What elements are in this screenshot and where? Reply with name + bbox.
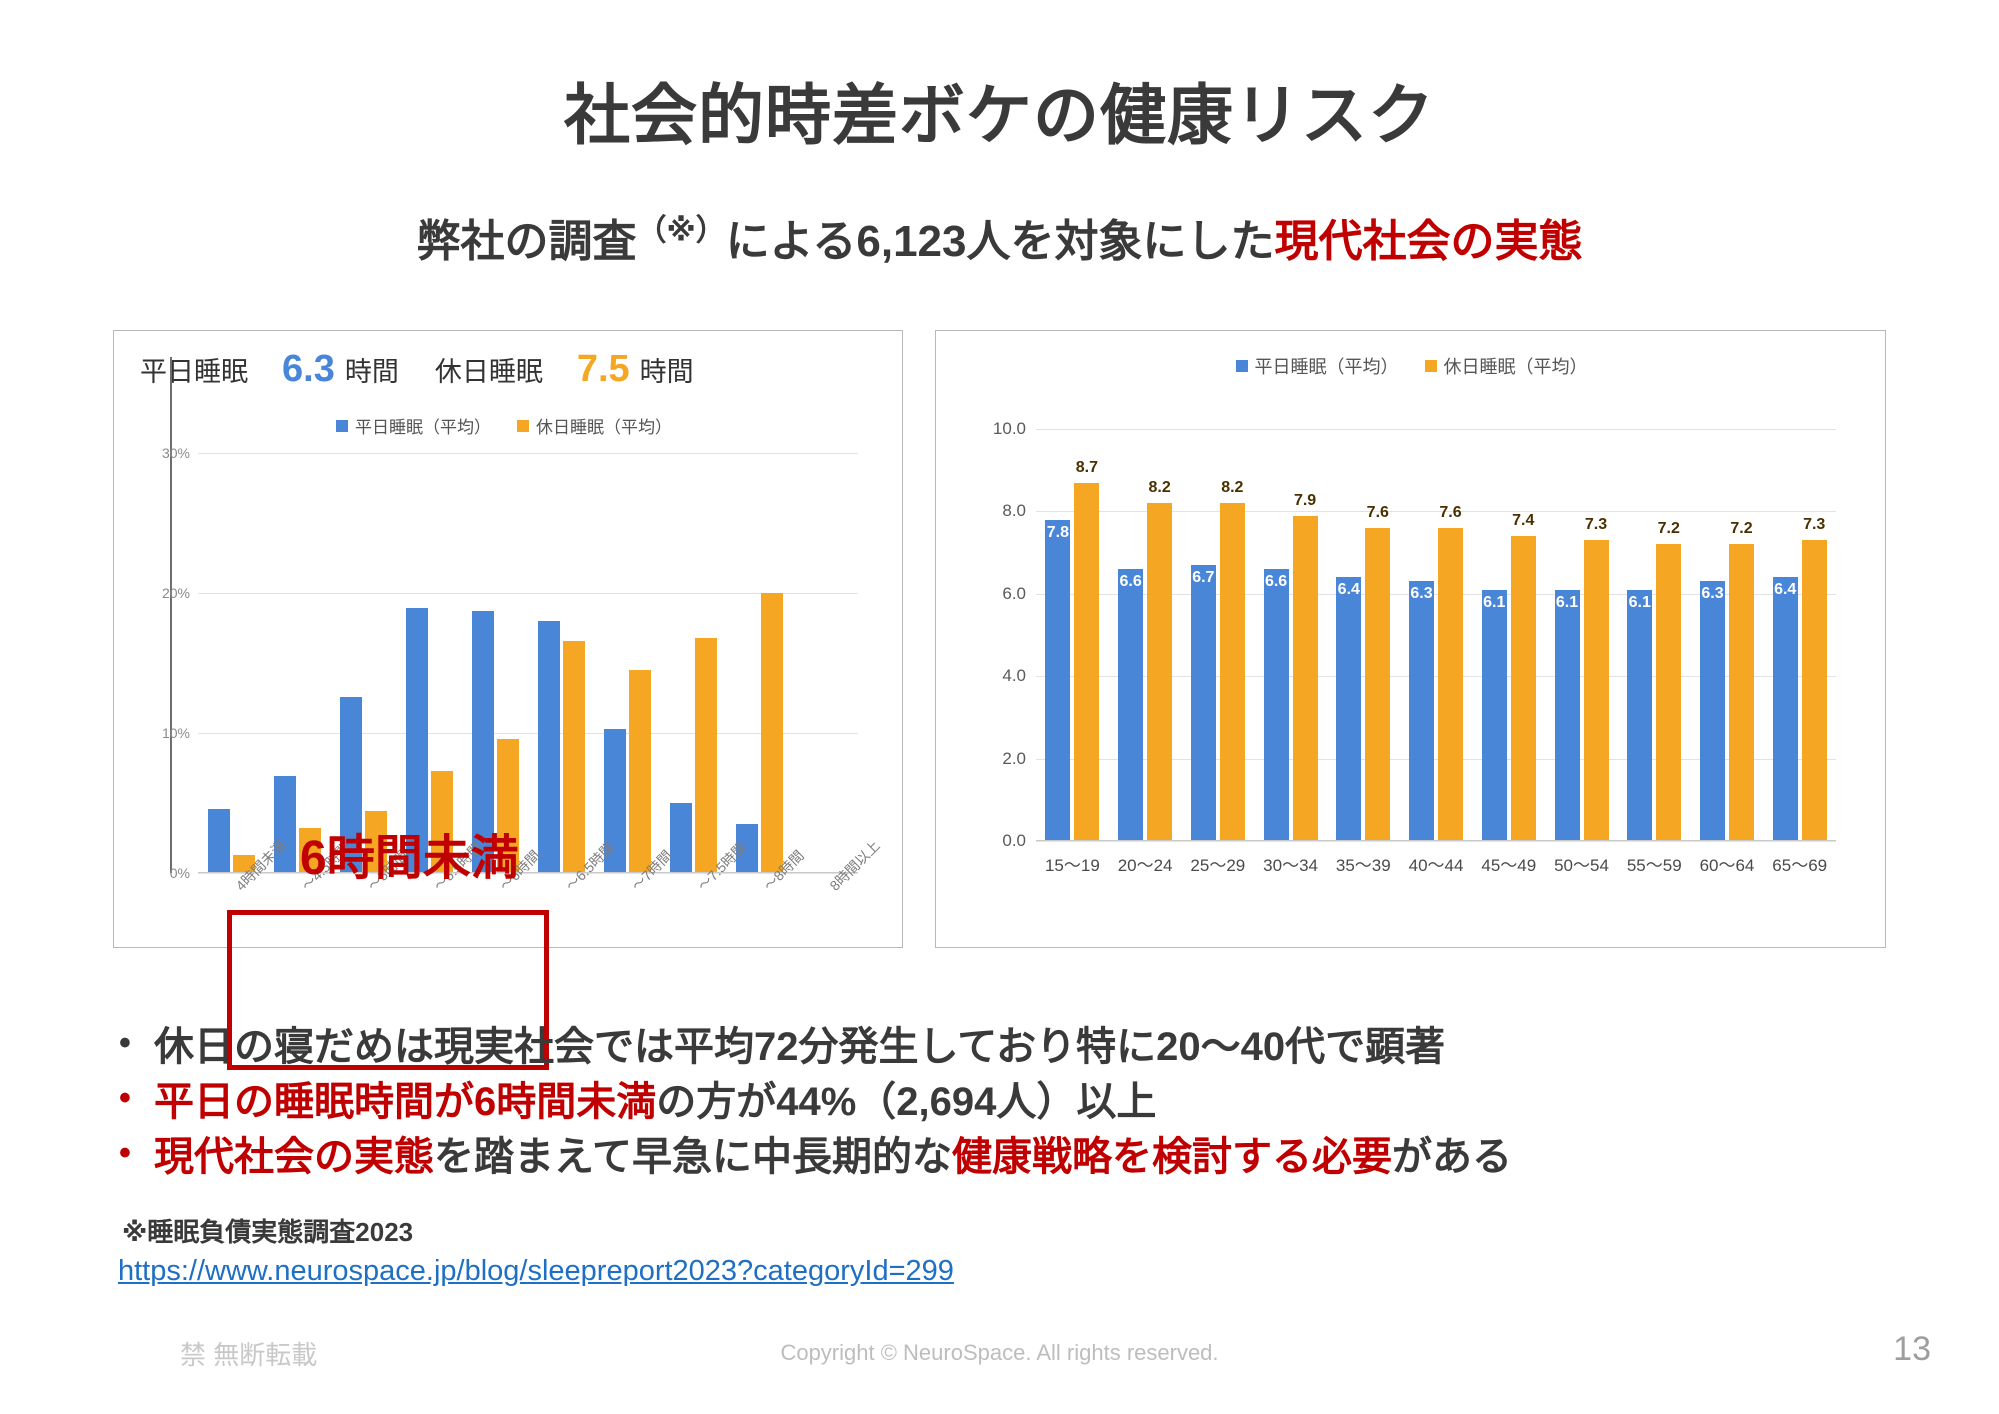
x-tick: ～7.5時間 <box>660 873 726 983</box>
bullet-item: •平日の睡眠時間が6時間未満の方が44%（2,694人）以上 <box>96 1075 1926 1130</box>
bullet-marker-icon: • <box>96 1075 154 1122</box>
weekday-sleep-label: 平日睡眠 <box>140 350 248 389</box>
bullet-marker-icon: • <box>96 1130 154 1177</box>
left-chart-plot-area: 0%10%20%30% 4時間未満～4.5時間～5時間～5.5時間～6時間～6.… <box>198 453 858 873</box>
bar-weekday: 7.8 <box>1045 520 1070 841</box>
bar-group <box>198 453 264 873</box>
y-tick-label: 4.0 <box>1002 666 1026 686</box>
bar-group <box>264 453 330 873</box>
bar-value-label: 8.2 <box>1221 479 1243 497</box>
y-tick-label: 8.0 <box>1002 501 1026 521</box>
bar-group <box>330 453 396 873</box>
x-tick: 8時間以上 <box>792 873 858 983</box>
bar-holiday: 8.2 <box>1220 503 1245 841</box>
bar-value-label: 7.9 <box>1294 492 1316 510</box>
bar-group <box>594 453 660 873</box>
legend-item-weekday-right: 平日睡眠（平均） <box>1236 353 1399 379</box>
legend-label-weekday: 平日睡眠（平均） <box>355 413 491 438</box>
bar-value-label: 6.1 <box>1483 594 1505 612</box>
x-tick: ～6.5時間 <box>528 873 594 983</box>
bar-holiday: 7.4 <box>1511 536 1536 841</box>
bar-holiday: 7.9 <box>1293 516 1318 841</box>
bar-group: 6.37.6 <box>1400 429 1473 841</box>
x-tick: ～4.5時間 <box>264 873 330 983</box>
x-tick-label: 50〜54 <box>1545 841 1618 881</box>
legend-label-holiday: 休日睡眠（平均） <box>536 413 672 438</box>
bar-weekday: 6.4 <box>1336 577 1361 841</box>
bar-group: 6.47.6 <box>1327 429 1400 841</box>
bar-weekday: 6.1 <box>1555 590 1580 841</box>
subtitle-footnote-marker: （※） <box>637 214 726 247</box>
x-tick-label: 25〜29 <box>1181 841 1254 881</box>
bar-holiday: 7.3 <box>1802 540 1827 841</box>
bar-group <box>528 453 594 873</box>
bar-weekday: 6.7 <box>1191 565 1216 841</box>
legend-item-holiday-right: 休日睡眠（平均） <box>1425 353 1588 379</box>
x-tick: ～5時間 <box>330 873 396 983</box>
x-tick: ～8時間 <box>726 873 792 983</box>
bullet-plain: の方が44%（2,694人）以上 <box>656 1080 1156 1124</box>
bullet-text: 現代社会の実態を踏まえて早急に中長期的な健康戦略を検討する必要がある <box>154 1130 1512 1185</box>
bar-value-label: 7.6 <box>1439 504 1461 522</box>
bullet-emphasis: 現代社会の実態 <box>154 1135 434 1179</box>
x-tick-label: 60〜64 <box>1691 841 1764 881</box>
bar-value-label: 7.4 <box>1512 512 1534 530</box>
legend-swatch-blue-icon <box>336 420 348 432</box>
bar-value-label: 7.3 <box>1803 516 1825 534</box>
bar-value-label: 7.6 <box>1367 504 1389 522</box>
bar-holiday: 7.6 <box>1365 528 1390 841</box>
slide-root: 社会的時差ボケの健康リスク 弊社の調査（※）による6,123人を対象にした現代社… <box>0 0 1999 1414</box>
x-tick-label: 35〜39 <box>1327 841 1400 881</box>
x-tick: 4時間未満 <box>198 873 264 983</box>
x-tick-label: 30〜34 <box>1254 841 1327 881</box>
y-tick-label: 20% <box>162 585 190 601</box>
bar-holiday: 7.6 <box>1438 528 1463 841</box>
bar-value-label: 6.7 <box>1192 569 1214 587</box>
chart-panel-sleep-by-age: 平日睡眠（平均） 休日睡眠（平均） 0.02.04.06.08.010.0 7.… <box>935 330 1886 948</box>
bar-holiday: 8.7 <box>1074 483 1099 841</box>
bar-holiday <box>695 638 717 873</box>
page-title: 社会的時差ボケの健康リスク <box>0 62 1999 158</box>
bar-weekday: 6.6 <box>1264 569 1289 841</box>
bar-holiday <box>761 593 783 873</box>
bar-value-label: 7.2 <box>1658 520 1680 538</box>
bullet-text: 休日の寝だめは現実社会では平均72分発生しており特に20〜40代で顕著 <box>154 1020 1445 1075</box>
y-tick-label: 10.0 <box>993 419 1026 439</box>
legend-item-holiday: 休日睡眠（平均） <box>517 413 672 438</box>
x-tick-label: 65〜69 <box>1763 841 1836 881</box>
bullet-emphasis: 健康戦略を検討する必要 <box>952 1135 1392 1179</box>
bar-value-label: 6.6 <box>1119 573 1141 591</box>
bullet-list: •休日の寝だめは現実社会では平均72分発生しており特に20〜40代で顕著•平日の… <box>96 1020 1926 1186</box>
bar-group: 6.47.3 <box>1763 429 1836 841</box>
bullet-plain: がある <box>1392 1135 1512 1179</box>
left-chart-summary: 平日睡眠 6.3 時間 休日睡眠 7.5 時間 <box>140 345 880 393</box>
bar-value-label: 7.8 <box>1047 524 1069 542</box>
bar-value-label: 7.2 <box>1730 520 1752 538</box>
x-tick-label: 40〜44 <box>1400 841 1473 881</box>
bar-value-label: 7.3 <box>1585 516 1607 534</box>
bar-weekday: 6.6 <box>1118 569 1143 841</box>
bar-group: 6.68.2 <box>1109 429 1182 841</box>
bar-group: 6.67.9 <box>1254 429 1327 841</box>
bar-group <box>726 453 792 873</box>
bar-group <box>462 453 528 873</box>
page-subtitle: 弊社の調査（※）による6,123人を対象にした現代社会の実態 <box>0 205 1999 269</box>
right-chart-plot-area: 0.02.04.06.08.010.0 7.88.76.68.26.78.26.… <box>1036 429 1836 841</box>
bar-group: 6.17.3 <box>1545 429 1618 841</box>
bar-group: 6.37.2 <box>1691 429 1764 841</box>
bar-value-label: 6.4 <box>1774 581 1796 599</box>
bar-weekday: 6.3 <box>1409 581 1434 841</box>
bar-group: 6.17.4 <box>1472 429 1545 841</box>
left-chart-y-axis <box>170 357 172 873</box>
bullet-emphasis: 平日の睡眠時間が6時間未満 <box>154 1080 656 1124</box>
weekday-sleep-unit: 時間 <box>345 350 399 389</box>
subtitle-pre: 弊社の調査 <box>417 217 637 266</box>
right-chart-x-labels: 15〜1920〜2425〜2930〜3435〜3940〜4445〜4950〜54… <box>1036 841 1836 881</box>
x-tick-label: 15〜19 <box>1036 841 1109 881</box>
bar-group: 6.17.2 <box>1618 429 1691 841</box>
legend-label-holiday-right: 休日睡眠（平均） <box>1444 353 1588 379</box>
weekday-sleep-value: 6.3 <box>282 348 335 391</box>
x-tick-label: 45〜49 <box>1472 841 1545 881</box>
bar-value-label: 6.6 <box>1265 573 1287 591</box>
bar-group <box>660 453 726 873</box>
legend-swatch-blue-icon <box>1236 360 1248 372</box>
holiday-sleep-label: 休日睡眠 <box>435 350 543 389</box>
footnote-text: ※睡眠負債実態調査2023 <box>122 1212 413 1249</box>
footer-copyright: Copyright © NeuroSpace. All rights reser… <box>0 1340 1999 1366</box>
bar-group <box>396 453 462 873</box>
highlight-annotation-label: 6時間未満 <box>300 818 519 888</box>
bar-weekday: 6.3 <box>1700 581 1725 841</box>
holiday-sleep-unit: 時間 <box>640 350 694 389</box>
footnote-link[interactable]: https://www.neurospace.jp/blog/sleeprepo… <box>118 1255 954 1288</box>
chart-panel-sleep-duration: 平日睡眠 6.3 時間 休日睡眠 7.5 時間 平日睡眠（平均） 休日睡眠（平均… <box>113 330 903 948</box>
bar-holiday: 7.3 <box>1584 540 1609 841</box>
bar-group <box>792 453 858 873</box>
bar-group: 7.88.7 <box>1036 429 1109 841</box>
bar-holiday: 7.2 <box>1656 544 1681 841</box>
legend-swatch-orange-icon <box>1425 360 1437 372</box>
bar-value-label: 6.1 <box>1556 594 1578 612</box>
x-tick-label: 55〜59 <box>1618 841 1691 881</box>
x-tick-label: 20〜24 <box>1109 841 1182 881</box>
x-tick: ～5.5時間 <box>396 873 462 983</box>
bar-value-label: 6.3 <box>1701 585 1723 603</box>
x-tick: ～6時間 <box>462 873 528 983</box>
bar-value-label: 6.1 <box>1629 594 1651 612</box>
y-tick-label: 30% <box>162 445 190 461</box>
page-number: 13 <box>1893 1330 1931 1369</box>
y-tick-label: 0.0 <box>1002 831 1026 851</box>
bullet-plain: を踏まえて早急に中長期的な <box>434 1135 952 1179</box>
bar-value-label: 8.2 <box>1148 479 1170 497</box>
subtitle-mid: による6,123人を対象にした <box>726 217 1275 266</box>
subtitle-highlight: 現代社会の実態 <box>1274 217 1582 266</box>
right-chart-legend: 平日睡眠（平均） 休日睡眠（平均） <box>936 353 1887 379</box>
y-tick-label: 10% <box>162 725 190 741</box>
legend-item-weekday: 平日睡眠（平均） <box>336 413 491 438</box>
right-chart-bars: 7.88.76.68.26.78.26.67.96.47.66.37.66.17… <box>1036 429 1836 841</box>
bar-value-label: 6.4 <box>1338 581 1360 599</box>
bullet-item: •休日の寝だめは現実社会では平均72分発生しており特に20〜40代で顕著 <box>96 1020 1926 1075</box>
left-chart-bars <box>198 453 858 873</box>
bullet-marker-icon: • <box>96 1020 154 1067</box>
y-tick-label: 2.0 <box>1002 749 1026 769</box>
bar-holiday: 8.2 <box>1147 503 1172 841</box>
bar-value-label: 6.3 <box>1410 585 1432 603</box>
y-tick-label: 0% <box>170 865 190 881</box>
legend-label-weekday-right: 平日睡眠（平均） <box>1255 353 1399 379</box>
bar-weekday: 6.1 <box>1627 590 1652 841</box>
left-chart-legend: 平日睡眠（平均） 休日睡眠（平均） <box>204 413 804 438</box>
bar-weekday: 6.1 <box>1482 590 1507 841</box>
bar-holiday: 7.2 <box>1729 544 1754 841</box>
bar-group: 6.78.2 <box>1181 429 1254 841</box>
left-chart-x-labels: 4時間未満～4.5時間～5時間～5.5時間～6時間～6.5時間～7時間～7.5時… <box>198 873 858 983</box>
bar-holiday <box>629 670 651 873</box>
bar-value-label: 8.7 <box>1076 459 1098 477</box>
bar-holiday <box>563 641 585 873</box>
bar-weekday: 6.4 <box>1773 577 1798 841</box>
y-tick-label: 6.0 <box>1002 584 1026 604</box>
bullet-text: 平日の睡眠時間が6時間未満の方が44%（2,694人）以上 <box>154 1075 1156 1130</box>
bullet-plain: 休日の寝だめは現実社会では平均72分発生しており特に20〜40代で顕著 <box>154 1025 1445 1069</box>
holiday-sleep-value: 7.5 <box>577 348 630 391</box>
bar-weekday <box>208 809 230 873</box>
legend-swatch-orange-icon <box>517 420 529 432</box>
x-tick: ～7時間 <box>594 873 660 983</box>
bar-weekday <box>538 621 560 873</box>
bullet-item: •現代社会の実態を踏まえて早急に中長期的な健康戦略を検討する必要がある <box>96 1130 1926 1185</box>
